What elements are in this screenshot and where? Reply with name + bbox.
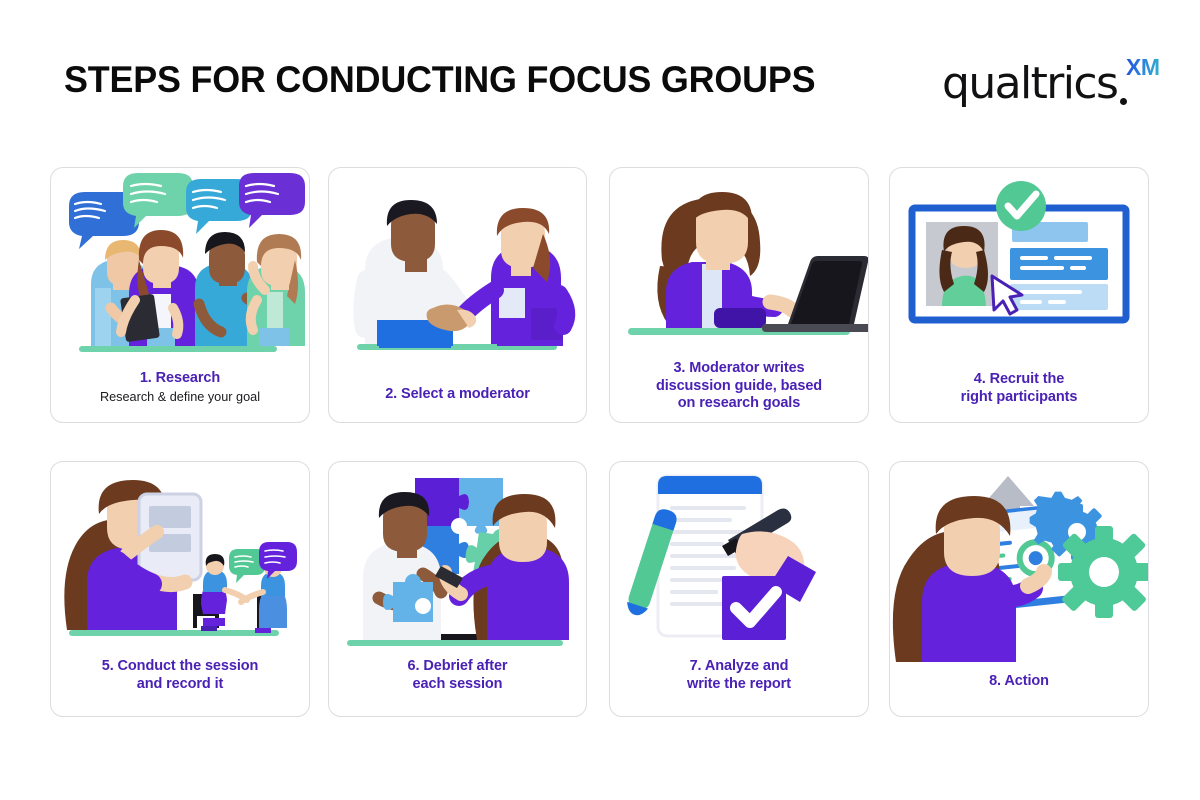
step-caption-6: 6. Debrief after each session bbox=[337, 658, 578, 693]
step-title-5-line2: and record it bbox=[59, 676, 301, 694]
step-caption-8: 8. Action bbox=[898, 673, 1140, 691]
report-writing-checklist-illustration bbox=[610, 462, 868, 657]
session-recording-tablet-illustration bbox=[51, 462, 309, 652]
step-title-6-line2: each session bbox=[337, 676, 578, 694]
step-title-8: 8. Action bbox=[898, 673, 1140, 691]
step-card-5[interactable]: 5. Conduct the session and record it bbox=[50, 461, 310, 717]
step-card-1[interactable]: 1. Research Research & define your goal bbox=[50, 167, 310, 423]
step-title-7-line2: write the report bbox=[618, 676, 860, 694]
step-caption-2: 2. Select a moderator bbox=[337, 386, 578, 404]
step-title-5-line1: 5. Conduct the session bbox=[59, 658, 301, 676]
woman-laptop-illustration bbox=[610, 168, 868, 348]
step-title-1: 1. Research bbox=[59, 370, 301, 388]
handshake-illustration bbox=[329, 168, 586, 368]
participant-profile-card-illustration bbox=[890, 168, 1148, 363]
step-subtitle-1: Research & define your goal bbox=[59, 389, 301, 406]
steps-grid: 1. Research Research & define your goal bbox=[0, 0, 1200, 800]
step-card-8[interactable]: 8. Action bbox=[889, 461, 1149, 717]
step-title-4-line1: 4. Recruit the bbox=[898, 371, 1140, 389]
step-title-3-line2: discussion guide, based bbox=[618, 378, 860, 396]
step-title-4-line2: right participants bbox=[898, 389, 1140, 407]
step-card-4[interactable]: 4. Recruit the right participants bbox=[889, 167, 1149, 423]
step-title-6-line1: 6. Debrief after bbox=[337, 658, 578, 676]
step-caption-5: 5. Conduct the session and record it bbox=[59, 658, 301, 693]
step-card-3[interactable]: 3. Moderator writes discussion guide, ba… bbox=[609, 167, 869, 423]
step-title-7-line1: 7. Analyze and bbox=[618, 658, 860, 676]
step-caption-4: 4. Recruit the right participants bbox=[898, 371, 1140, 406]
step-card-7[interactable]: 7. Analyze and write the report bbox=[609, 461, 869, 717]
infographic-page: STEPS FOR CONDUCTING FOCUS GROUPS qualtr… bbox=[0, 0, 1200, 800]
step-card-6[interactable]: 6. Debrief after each session bbox=[328, 461, 587, 717]
puzzle-pieces-teamwork-illustration bbox=[329, 462, 586, 657]
step-card-2[interactable]: 2. Select a moderator bbox=[328, 167, 587, 423]
step-title-2: 2. Select a moderator bbox=[337, 386, 578, 404]
step-title-3-line1: 3. Moderator writes bbox=[618, 360, 860, 378]
dashboard-gears-growth-illustration bbox=[890, 462, 1148, 662]
step-caption-7: 7. Analyze and write the report bbox=[618, 658, 860, 693]
step-caption-3: 3. Moderator writes discussion guide, ba… bbox=[618, 360, 860, 413]
step-caption-1: 1. Research Research & define your goal bbox=[59, 370, 301, 406]
focus-group-discussion-illustration bbox=[51, 168, 309, 363]
step-title-3-line3: on research goals bbox=[618, 395, 860, 413]
